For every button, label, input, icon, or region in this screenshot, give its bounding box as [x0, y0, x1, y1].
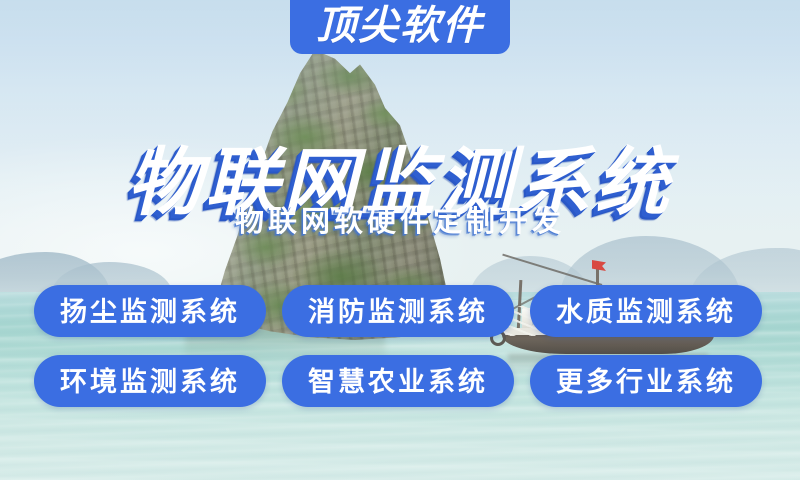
page-subtitle: 物联网软硬件定制开发: [235, 208, 565, 237]
iot-monitoring-banner: 顶尖软件 物联网监测系统 物联网软硬件定制开发 扬尘监测系统 消防监测系统 水质…: [0, 0, 800, 480]
category-button-environment-monitoring[interactable]: 环境监测系统: [34, 355, 266, 407]
category-button-dust-monitoring[interactable]: 扬尘监测系统: [34, 285, 266, 337]
category-button-smart-agriculture[interactable]: 智慧农业系统: [282, 355, 514, 407]
brand-badge: 顶尖软件: [290, 0, 510, 54]
category-button-grid: 扬尘监测系统 消防监测系统 水质监测系统 环境监测系统 智慧农业系统 更多行业系…: [34, 285, 766, 407]
category-button-more-industries[interactable]: 更多行业系统: [530, 355, 762, 407]
category-button-fire-monitoring[interactable]: 消防监测系统: [282, 285, 514, 337]
category-button-water-quality-monitoring[interactable]: 水质监测系统: [530, 285, 762, 337]
banner-content: 顶尖软件 物联网监测系统 物联网软硬件定制开发 扬尘监测系统 消防监测系统 水质…: [0, 0, 800, 480]
